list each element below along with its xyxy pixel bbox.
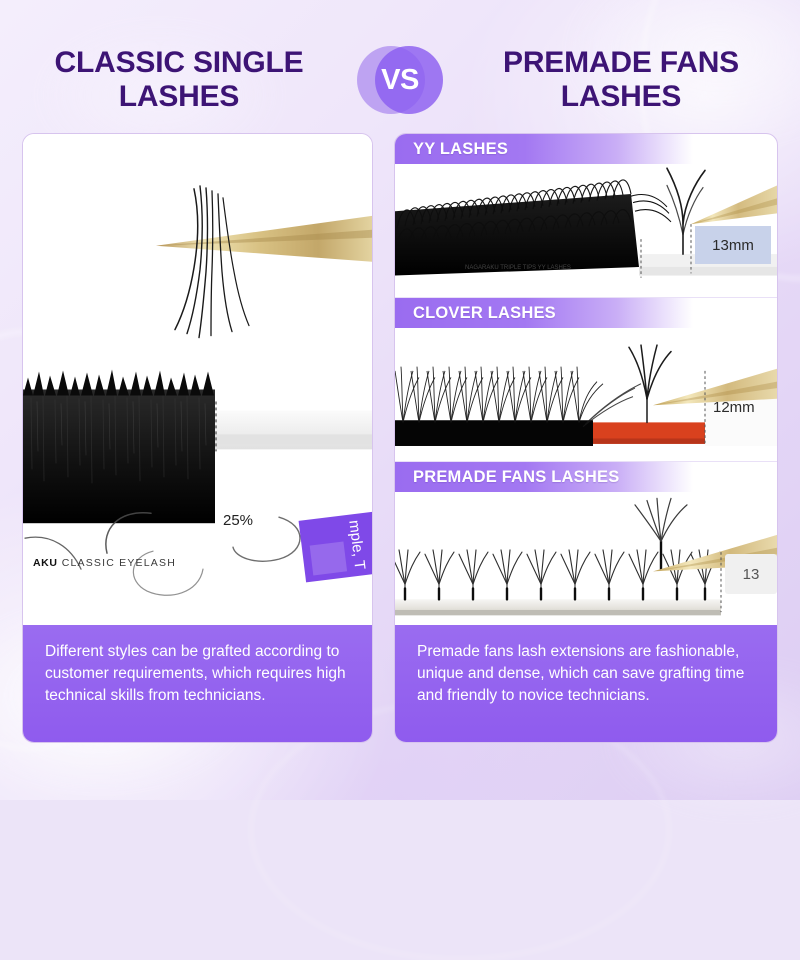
measurement-chip-yy: 13mm: [695, 226, 771, 264]
yy-lash-band: NAGARAKU TRIPLE TIPS YY LASHES: [395, 180, 671, 276]
section-clover-lashes: CLOVER LASHES: [395, 297, 777, 461]
section-header-premade: PREMADE FANS LASHES: [395, 462, 777, 492]
strip-brand-text: NAGARAKU TRIPLE TIPS YY LASHES: [465, 264, 571, 271]
section-title: PREMADE FANS LASHES: [395, 468, 619, 487]
yy-lashes-artwork: NAGARAKU TRIPLE TIPS YY LASHES: [395, 164, 777, 297]
premade-fans-artwork: 13: [395, 492, 777, 625]
classic-lashes-artwork: 25% AKU CLASSIC EYELASH mple, T: [23, 134, 372, 625]
vs-badge: VS: [357, 43, 443, 117]
section-header-yy: YY LASHES: [395, 134, 777, 164]
page-title-right: PREMADE FANS LASHES: [471, 46, 771, 114]
section-title: CLOVER LASHES: [395, 304, 556, 323]
section-title: YY LASHES: [395, 140, 508, 159]
tweezers-icon: [156, 216, 372, 262]
clover-lashes-artwork: 12mm: [395, 328, 777, 461]
section-header-clover: CLOVER LASHES: [395, 298, 777, 328]
tag-sheen: [310, 542, 347, 576]
vs-label: VS: [357, 43, 443, 117]
panel-premade-fans-lashes: YY LASHES: [394, 133, 778, 743]
clover-fan-sample: [629, 345, 671, 422]
brand-name: AKU: [33, 557, 58, 569]
tag-text: mple, T: [346, 519, 369, 570]
measurement-chip-premade: 13: [725, 554, 777, 594]
section-yy-lashes: YY LASHES: [395, 134, 777, 297]
caption-right: Premade fans lash extensions are fashion…: [395, 625, 777, 742]
measurement-chip-clover: 12mm: [709, 392, 773, 422]
caption-left: Different styles can be grafted accordin…: [23, 625, 372, 742]
premade-fans-illustration: [395, 492, 777, 625]
brand-label: AKU CLASSIC EYELASH: [33, 557, 176, 569]
page-title-left: CLASSIC SINGLE LASHES: [29, 46, 329, 114]
panel-classic-single-lashes: 25% AKU CLASSIC EYELASH mple, T Differen…: [22, 133, 373, 743]
section-premade-fans-lashes: PREMADE FANS LASHES: [395, 461, 777, 625]
brand-descriptor: CLASSIC EYELASH: [62, 557, 176, 569]
tweezers-icon: [691, 185, 777, 224]
purple-sample-tag: mple, T: [299, 510, 372, 583]
premade-fans-row: [395, 550, 720, 599]
comparison-header: CLASSIC SINGLE LASHES VS PREMADE FANS LA…: [0, 36, 800, 124]
percent-label: 25%: [223, 512, 253, 529]
